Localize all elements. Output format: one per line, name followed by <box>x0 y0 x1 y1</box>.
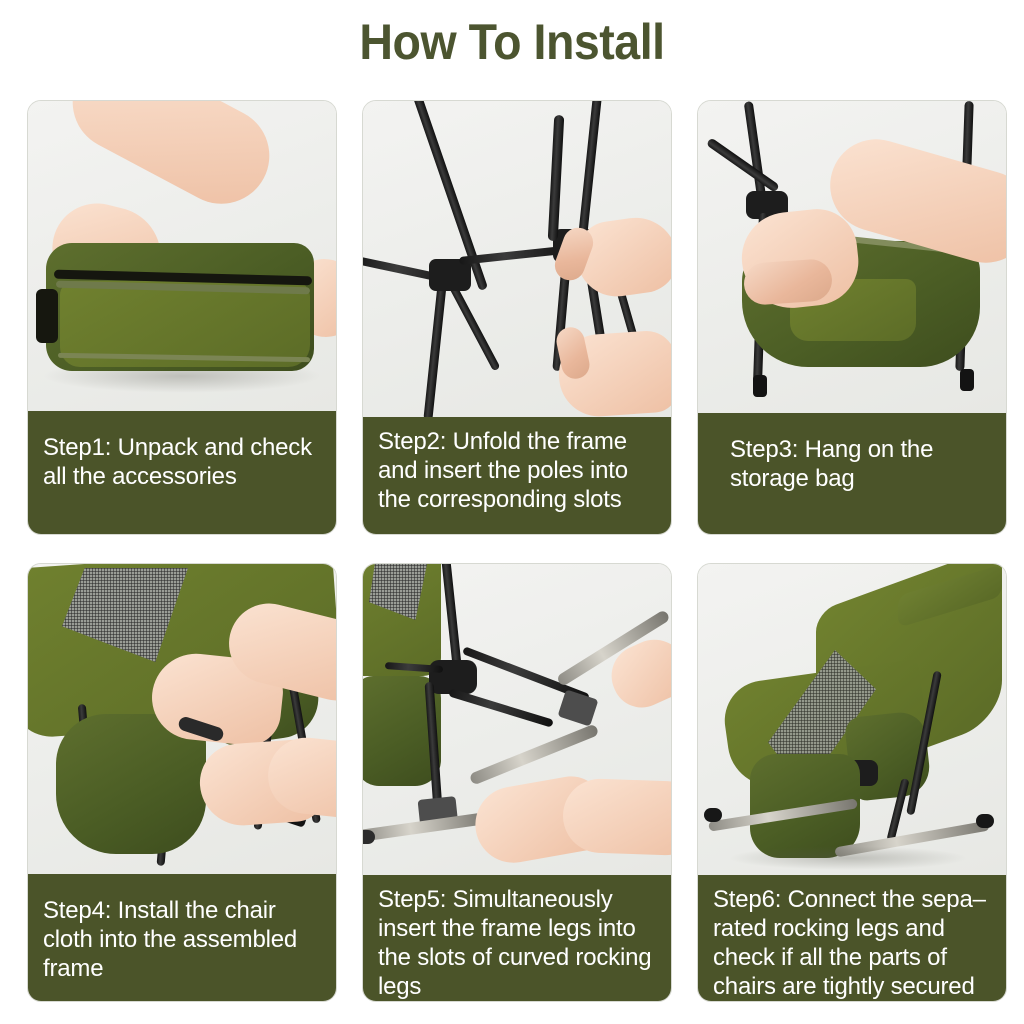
leg-foot-right <box>960 369 974 391</box>
step-3-caption: Step3: Hang on the storage bag <box>698 413 1006 534</box>
step-card-4[interactable]: Step4: Install the chair cloth into the … <box>27 563 337 1002</box>
rocking-leg-cap-front <box>704 808 722 822</box>
step-3-photo <box>698 101 1006 413</box>
step-card-6[interactable]: Step6: Connect the sepa–rated rocking le… <box>697 563 1007 1002</box>
step-6-caption: Step6: Connect the sepa–rated rocking le… <box>698 875 1006 1002</box>
fingers <box>743 258 834 306</box>
step-4-caption: Step4: Install the chair cloth into the … <box>28 874 336 1001</box>
leg-foot-left <box>753 375 767 397</box>
step-6-photo <box>698 564 1006 875</box>
step-card-2[interactable]: Step2: Unfold the frame and insert the p… <box>362 100 672 535</box>
step-5-photo <box>363 564 671 875</box>
steps-grid-row-2: Step4: Install the chair cloth into the … <box>27 563 997 1002</box>
chair-shadow <box>728 846 968 870</box>
step-1-photo <box>28 101 336 411</box>
step-2-photo <box>363 101 671 417</box>
forearm-lower <box>562 778 671 857</box>
step-1-caption: Step1: Unpack and check all the accessor… <box>28 411 336 534</box>
step-card-5[interactable]: Step5: Simultaneously insert the frame l… <box>362 563 672 1002</box>
step-2-caption: Step2: Unfold the frame and insert the p… <box>363 417 671 534</box>
steps-grid-row-1: Step1: Unpack and check all the accessor… <box>27 100 997 535</box>
rocking-leg-cap-rear <box>976 814 994 828</box>
page-title: How To Install <box>36 13 988 71</box>
step-5-caption: Step5: Simultaneously insert the frame l… <box>363 875 671 1002</box>
step-card-3[interactable]: Step3: Hang on the storage bag <box>697 100 1007 535</box>
step-card-1[interactable]: Step1: Unpack and check all the accessor… <box>27 100 337 535</box>
step-4-photo <box>28 564 336 874</box>
bag-handle-strap <box>36 289 58 343</box>
infographic-page: How To Install Step1: Unpac <box>0 0 1024 1024</box>
